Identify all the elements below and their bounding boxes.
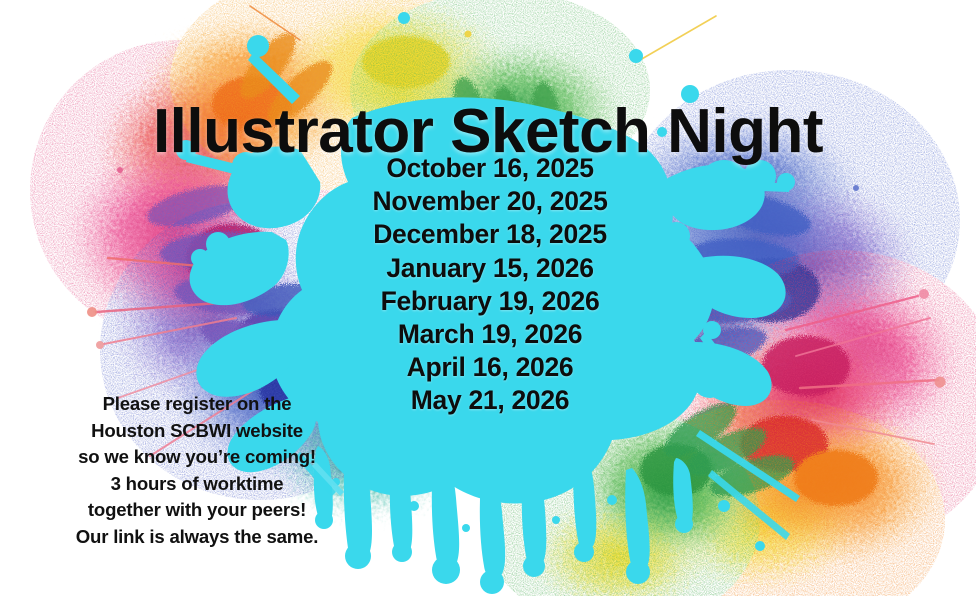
list-item: February 19, 2026 <box>315 285 665 318</box>
note-line: together with your peers! <box>47 497 347 524</box>
list-item: March 19, 2026 <box>315 318 665 351</box>
registration-note: Please register on the Houston SCBWI web… <box>47 391 347 551</box>
note-line: Please register on the <box>47 391 347 418</box>
note-line: so we know you’re coming! <box>47 444 347 471</box>
list-item: December 18, 2025 <box>315 218 665 251</box>
list-item: May 21, 2026 <box>315 384 665 417</box>
note-line: 3 hours of worktime <box>47 471 347 498</box>
list-item: November 20, 2025 <box>315 185 665 218</box>
poster-canvas: Illustrator Sketch Night October 16, 202… <box>0 0 976 596</box>
session-dates-list: October 16, 2025 November 20, 2025 Decem… <box>315 152 665 418</box>
note-line: Our link is always the same. <box>47 524 347 551</box>
list-item: January 15, 2026 <box>315 252 665 285</box>
note-line: Houston SCBWI website <box>47 418 347 445</box>
list-item: October 16, 2025 <box>315 152 665 185</box>
list-item: April 16, 2026 <box>315 351 665 384</box>
